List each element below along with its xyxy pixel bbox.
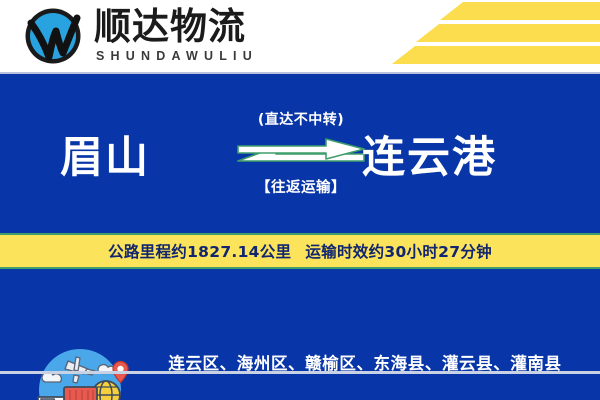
company-name-en: SHUNDAWULIU — [96, 49, 258, 64]
route-note-roundtrip: 【往返运输】 — [236, 178, 366, 198]
origin-city: 眉山 — [60, 130, 150, 186]
decorative-stripes — [310, 0, 600, 72]
company-logo: 顺达物流 SHUNDAWULIU — [22, 4, 258, 67]
company-name-cn: 顺达物流 — [94, 6, 258, 48]
route-row: 眉山 (直达不中转) 【往返运输】 连云港 — [0, 110, 600, 230]
coverage-row: 连云区、海州区、赣榆区、东海县、灌云县、灌南县 — [0, 269, 600, 372]
header: 顺达物流 SHUNDAWULIU — [0, 0, 600, 72]
company-name-block: 顺达物流 SHUNDAWULIU — [94, 4, 258, 64]
info-bar: 公路里程约1827.14公里 运输时效约30小时27分钟 — [0, 233, 600, 269]
destination-city: 连云港 — [362, 130, 497, 186]
circular-swoosh-logo-icon — [22, 5, 84, 67]
route-arrow-group: (直达不中转) 【往返运输】 — [236, 110, 366, 230]
duration-text: 运输时效约30小时27分钟 — [305, 240, 492, 262]
distance-text: 公路里程约1827.14公里 — [108, 240, 291, 262]
bottom-divider — [0, 371, 600, 374]
top-divider — [0, 72, 600, 74]
route-note-direct: (直达不中转) — [236, 110, 366, 130]
yellow-stripes-icon — [310, 0, 600, 72]
bidirectional-arrow-icon — [236, 137, 366, 171]
main-body: 眉山 (直达不中转) 【往返运输】 连云港 公路里程约1827.14公里 运输时… — [0, 72, 600, 400]
logistics-route-banner: 顺达物流 SHUNDAWULIU 眉山 (直达不中转) 【往返运输】 连云港 — [0, 0, 600, 400]
